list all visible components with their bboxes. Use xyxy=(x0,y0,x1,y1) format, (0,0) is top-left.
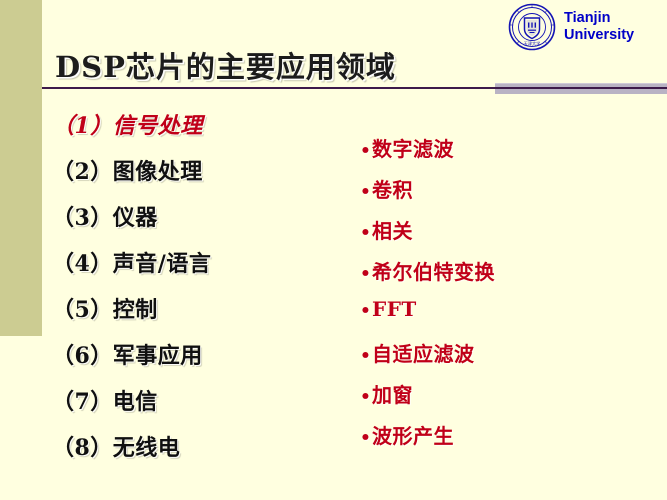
list-item-label: 自适应滤波 xyxy=(372,338,475,367)
bulleted-list: • 数字滤波 • 卷积 • 相关 • 希尔伯特变换 • FFT • 自适应滤波 … xyxy=(360,133,660,461)
tianjin-university-seal-icon: 天津大学 xyxy=(508,3,556,51)
university-name-line1: Tianjin xyxy=(564,10,634,27)
university-name-line2: University xyxy=(564,27,634,44)
list-item-label: FFT xyxy=(372,297,417,321)
divider-block-line xyxy=(495,87,667,89)
list-item: （8）无线电 xyxy=(52,430,342,476)
svg-text:天津大学: 天津大学 xyxy=(524,40,541,47)
list-item: （2）图像处理 xyxy=(52,154,342,200)
left-accent-strip xyxy=(0,0,42,336)
university-name: Tianjin University xyxy=(564,10,634,44)
university-logo: 天津大学 Tianjin University xyxy=(508,2,665,52)
bullet-icon: • xyxy=(360,389,372,406)
list-item-label: 希尔伯特变换 xyxy=(372,256,495,285)
list-item: （6）军事应用 xyxy=(52,338,342,384)
bullet-icon: • xyxy=(360,348,372,365)
title-divider xyxy=(42,86,667,90)
list-item: • 相关 xyxy=(360,215,660,256)
list-item-label: 波形产生 xyxy=(372,420,454,449)
bullet-icon: • xyxy=(360,225,372,242)
list-item: （7）电信 xyxy=(52,384,342,430)
list-item: • 数字滤波 xyxy=(360,133,660,174)
numbered-list: （1）信号处理 （2）图像处理 （3）仪器 （4）声音/语言 （5）控制 （6）… xyxy=(52,108,342,476)
list-item: • 希尔伯特变换 xyxy=(360,256,660,297)
bullet-icon: • xyxy=(360,266,372,283)
list-item: • 自适应滤波 xyxy=(360,338,660,379)
list-item: • 波形产生 xyxy=(360,420,660,461)
list-item-label: 相关 xyxy=(372,215,413,244)
list-item: （1）信号处理 xyxy=(52,108,342,154)
list-item-label: 数字滤波 xyxy=(372,133,454,162)
list-item: • 加窗 xyxy=(360,379,660,420)
list-item-label: 卷积 xyxy=(372,174,413,203)
list-item-label: 加窗 xyxy=(372,379,413,408)
slide-canvas: 天津大学 Tianjin University DSP芯片的主要应用领域 （1）… xyxy=(0,0,667,500)
list-item: （5）控制 xyxy=(52,292,342,338)
bullet-icon: • xyxy=(360,143,372,160)
bullet-icon: • xyxy=(360,184,372,201)
slide-title: DSP芯片的主要应用领域 xyxy=(55,44,396,86)
bullet-icon: • xyxy=(360,303,372,320)
list-item: • 卷积 xyxy=(360,174,660,215)
bullet-icon: • xyxy=(360,430,372,447)
list-item: • FFT xyxy=(360,297,660,338)
list-item: （4）声音/语言 xyxy=(52,246,342,292)
list-item: （3）仪器 xyxy=(52,200,342,246)
